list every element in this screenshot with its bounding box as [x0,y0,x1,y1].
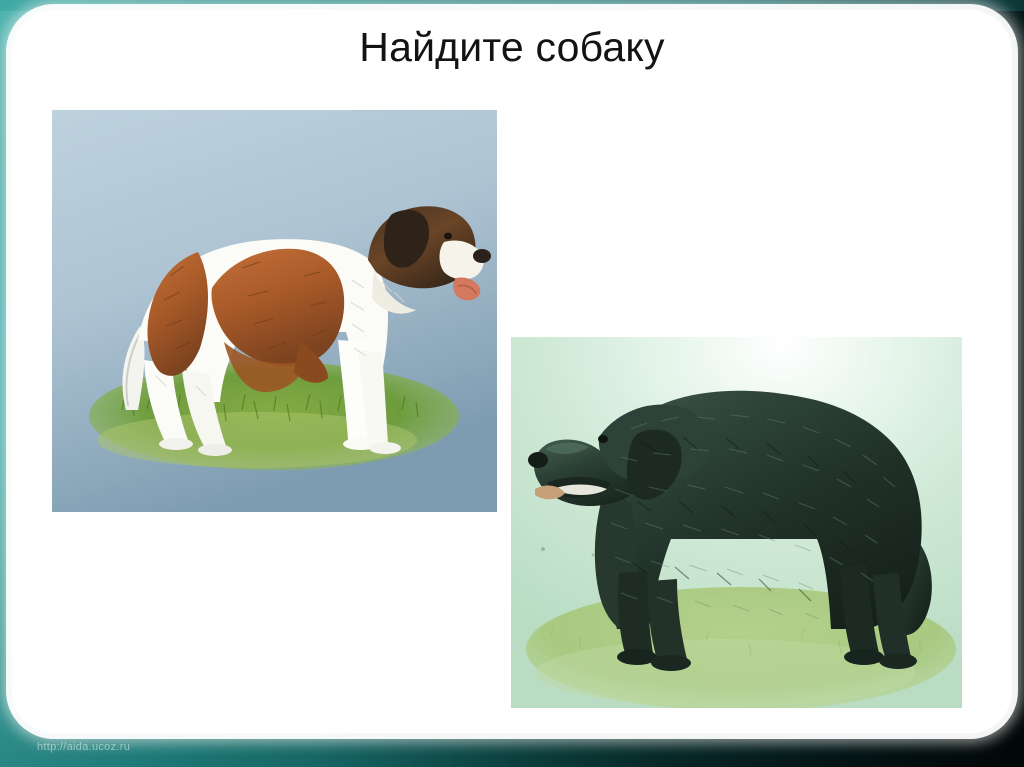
page-title: Найдите собаку [12,22,1012,72]
saint-bernard-drawing [52,110,497,512]
slide-background: Найдите собаку [0,0,1024,767]
image-saint-bernard [52,110,497,512]
watermark-url: http://aida.ucoz.ru [37,741,130,754]
image-newfoundland [511,337,962,708]
slide-content-card: Найдите собаку [12,10,1012,733]
slide-content-inner: Найдите собаку [12,10,1012,733]
newfoundland-drawing [511,337,962,708]
